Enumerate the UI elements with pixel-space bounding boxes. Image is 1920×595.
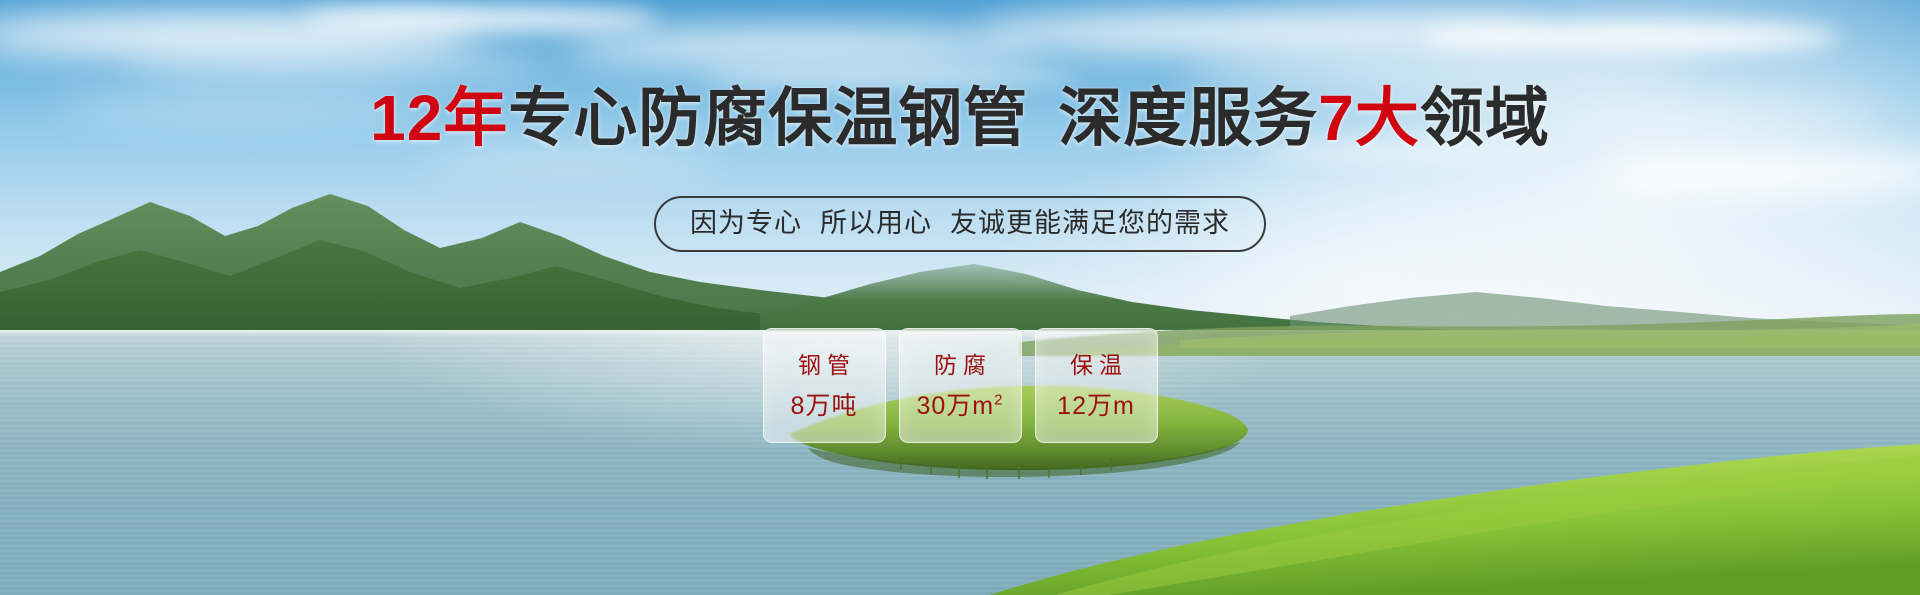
- stat-card-label: 保温: [1064, 352, 1128, 378]
- subtitle-segment-2: 所以用心: [820, 208, 932, 238]
- banner-content: 12年专心防腐保温钢管深度服务7大领域 因为专心所以用心友诚更能满足您的需求 钢…: [0, 0, 1920, 595]
- subtitle-segment-3: 友诚更能满足您的需求: [950, 208, 1230, 238]
- hero-banner: 12年专心防腐保温钢管深度服务7大领域 因为专心所以用心友诚更能满足您的需求 钢…: [0, 0, 1920, 595]
- headline-main: 专心防腐保温钢管: [508, 82, 1028, 154]
- stat-card-label: 钢管: [792, 352, 856, 378]
- page-title: 12年专心防腐保温钢管深度服务7大领域: [0, 82, 1920, 154]
- subtitle-pill: 因为专心所以用心友诚更能满足您的需求: [654, 196, 1266, 252]
- stat-card-value-superscript: 2: [994, 391, 1003, 408]
- stats-card-group: 钢管 8万吨 防腐 30万m2 保温 12万m: [0, 328, 1920, 443]
- stat-card-value-text: 12万m: [1057, 392, 1135, 420]
- stat-card-value: 12万m: [1057, 392, 1135, 420]
- headline-fields-count: 7大: [1318, 82, 1420, 154]
- stat-card-steel-pipe[interactable]: 钢管 8万吨: [763, 328, 886, 443]
- stat-card-label: 防腐: [928, 352, 992, 378]
- stat-card-insulation[interactable]: 保温 12万m: [1035, 328, 1158, 443]
- stat-card-anticorrosion[interactable]: 防腐 30万m2: [899, 328, 1022, 443]
- headline-service: 深度服务: [1058, 82, 1318, 154]
- stat-card-value-text: 8万吨: [791, 392, 858, 420]
- subtitle-container: 因为专心所以用心友诚更能满足您的需求: [0, 196, 1920, 252]
- stat-card-value-text: 30万m: [917, 392, 995, 420]
- headline-years: 12年: [370, 82, 508, 154]
- subtitle-segment-1: 因为专心: [690, 208, 802, 238]
- stat-card-value: 30万m2: [917, 392, 1004, 420]
- headline-fields: 领域: [1420, 82, 1550, 154]
- stat-card-value: 8万吨: [791, 392, 858, 420]
